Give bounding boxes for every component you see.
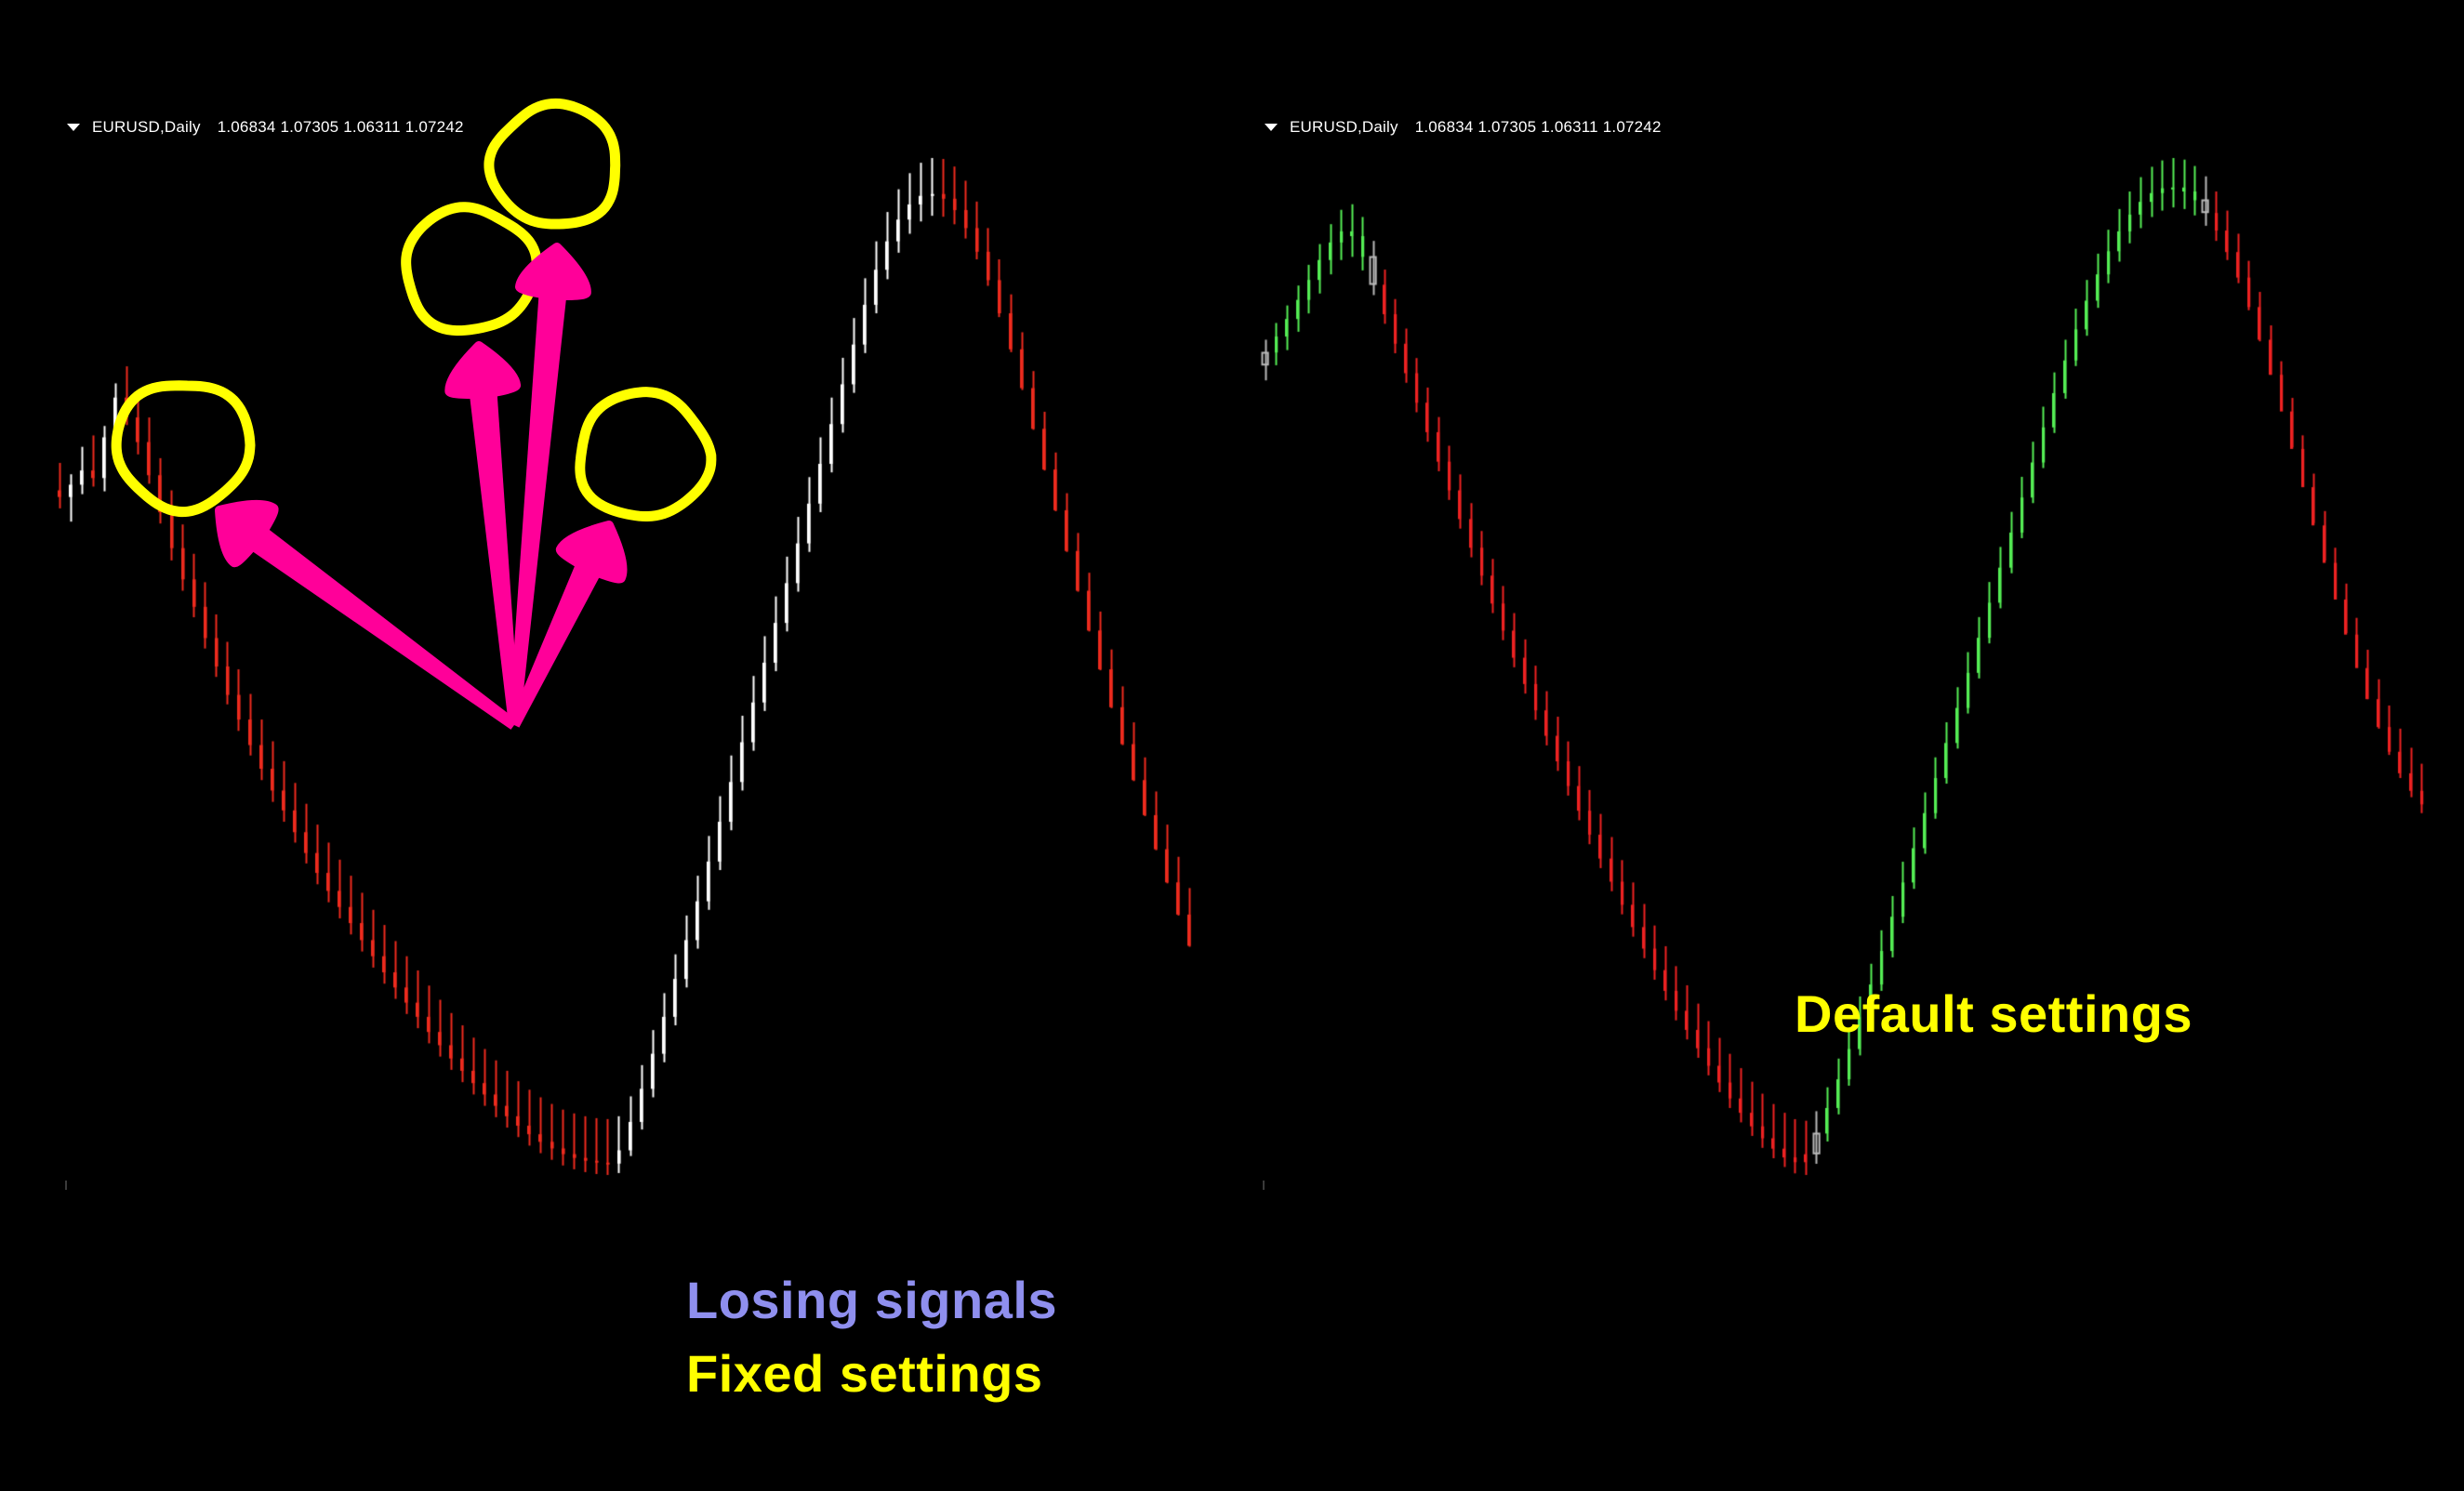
candlestick-canvas-left <box>0 0 1232 1491</box>
label-losing-signals: Losing signals <box>686 1274 1057 1326</box>
candlestick-canvas-right <box>1232 0 2464 1491</box>
axis-corner-tick-right <box>1263 1181 1265 1190</box>
chart-panel-fixed-settings[interactable]: EURUSD,Daily 1.06834 1.07305 1.06311 1.0… <box>0 0 1232 1491</box>
label-default-settings: Default settings <box>1795 988 2192 1040</box>
screenshot-root: EURUSD,Daily 1.06834 1.07305 1.06311 1.0… <box>0 0 2464 1491</box>
axis-corner-tick-left <box>65 1181 67 1190</box>
label-fixed-settings: Fixed settings <box>686 1348 1043 1400</box>
chart-panel-default-settings[interactable]: EURUSD,Daily 1.06834 1.07305 1.06311 1.0… <box>1232 0 2464 1491</box>
